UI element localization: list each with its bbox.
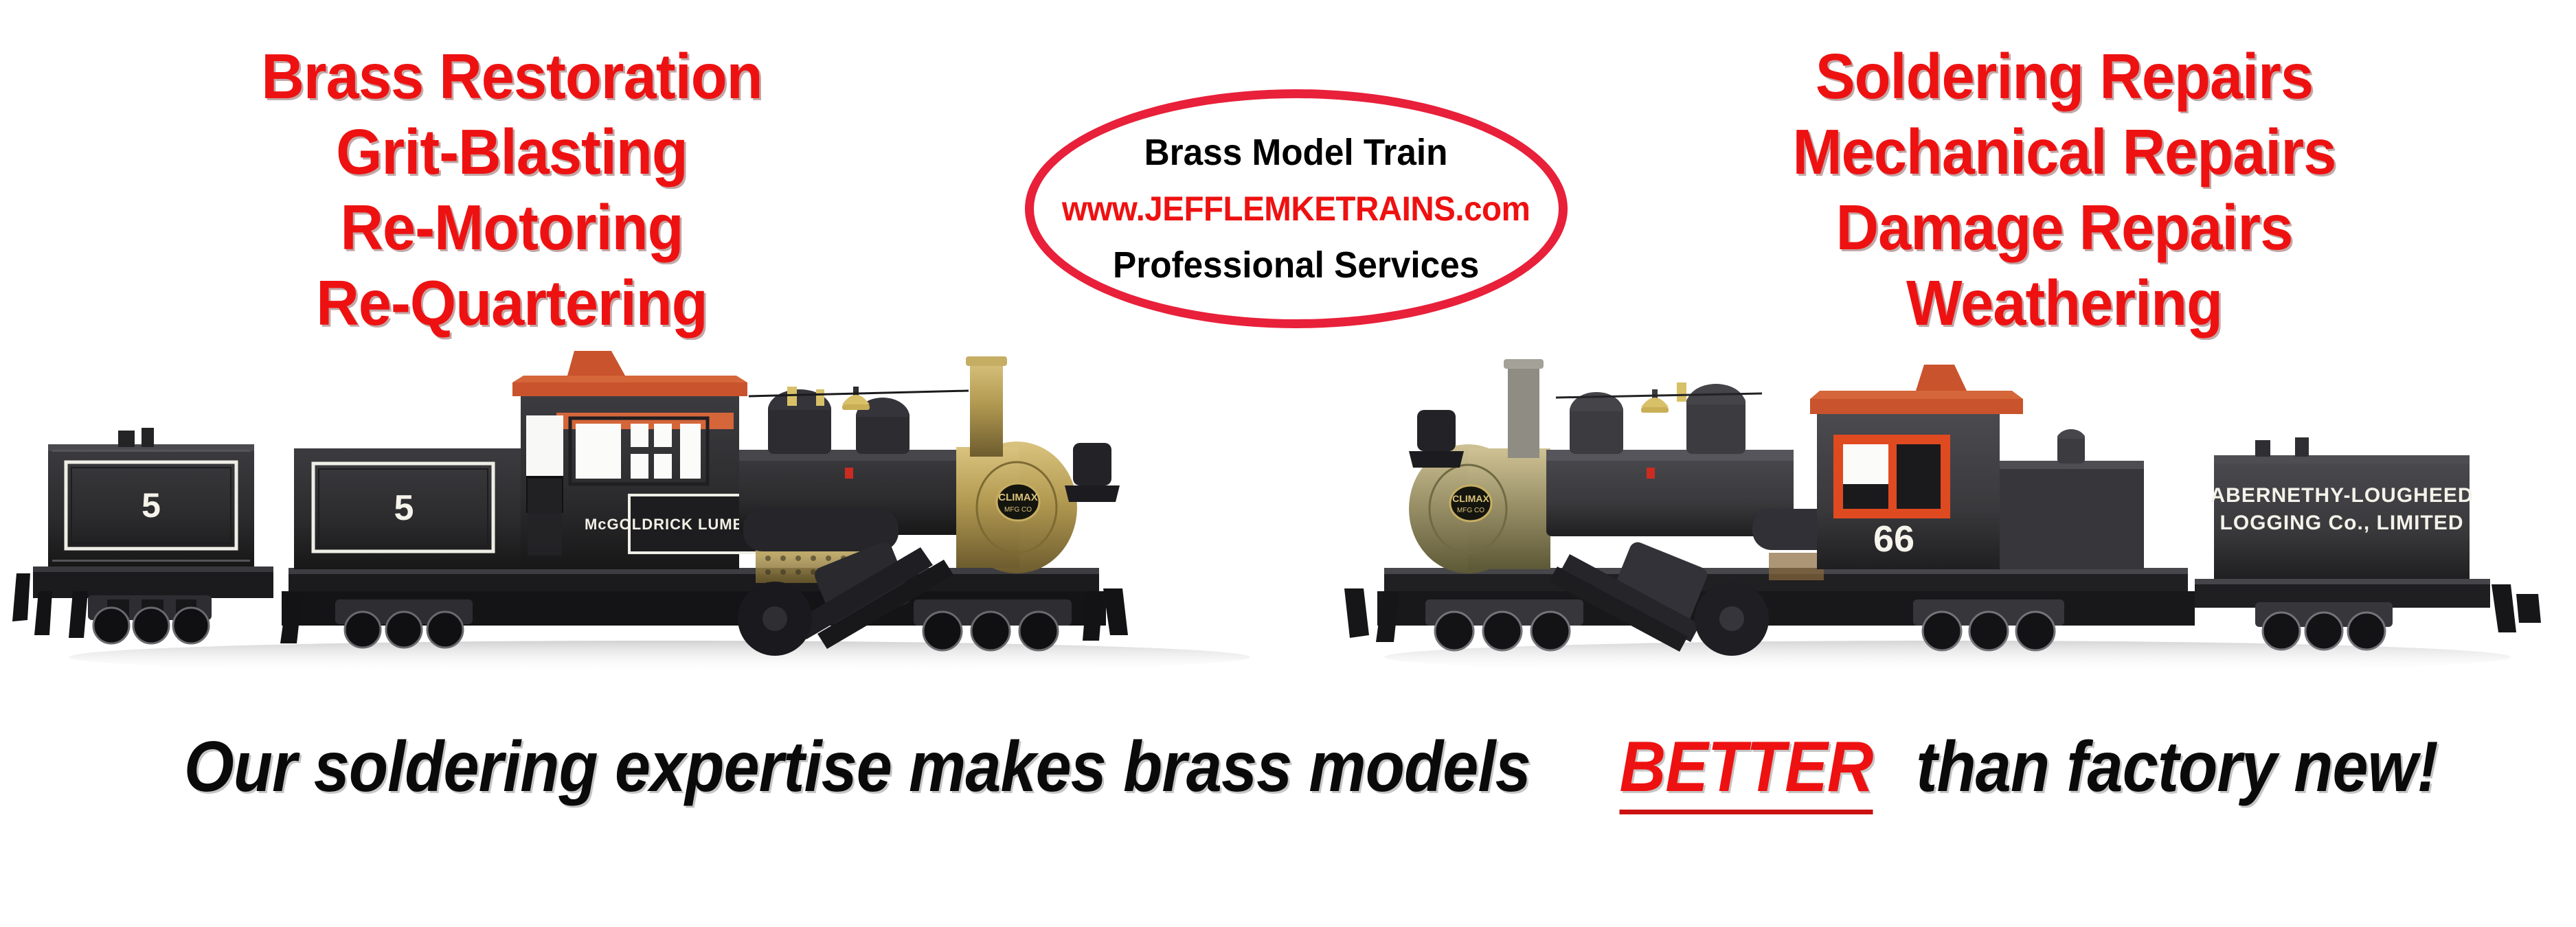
cab-bunker-number-label: 5	[394, 488, 414, 528]
advertisement-banner: Brass Restoration Grit-Blasting Re-Motor…	[0, 0, 2576, 927]
service-item-brass-restoration: Brass Restoration	[163, 38, 860, 114]
logo-line-brass-model-train: Brass Model Train	[1144, 131, 1448, 174]
headlight	[1065, 443, 1120, 502]
climax-drive-gear	[1549, 540, 1769, 656]
bell-brass	[842, 387, 870, 410]
service-item-weathering: Weathering	[1716, 265, 2413, 341]
builder-plate-label: CLIMAX	[1452, 493, 1489, 504]
builder-plate-label: CLIMAX	[998, 492, 1038, 503]
locomotive-truck-rear	[1913, 599, 2064, 650]
tender-car: ABERNETHY-LOUGHEED LOGGING Co., LIMITED	[2195, 437, 2541, 650]
service-item-damage-repairs: Damage Repairs	[1716, 190, 2413, 265]
cab-number-label: 66	[1873, 518, 1914, 560]
services-list-right: Soldering Repairs Mechanical Repairs Dam…	[1690, 38, 2439, 341]
photo-ground-shadow	[69, 641, 1250, 674]
builder-plate-sublabel: MFG CO	[1004, 506, 1032, 514]
smokestack	[1508, 362, 1539, 458]
tagline: Our soldering expertise makes brass mode…	[0, 726, 2576, 814]
logo-line-website-url[interactable]: www.JEFFLEMKETRAINS.com	[1062, 189, 1530, 229]
smokestack	[970, 359, 1003, 457]
tender-lettering-line1: ABERNETHY-LOUGHEED	[2210, 484, 2473, 507]
builder-plate-sublabel: MFG CO	[1457, 507, 1484, 514]
locomotive-truck-front	[1425, 599, 1583, 650]
locomotive-photo-left: 5	[7, 347, 1319, 704]
services-list-left: Brass Restoration Grit-Blasting Re-Motor…	[137, 38, 886, 341]
tender-lettering-line2: LOGGING Co., LIMITED	[2220, 512, 2464, 534]
locomotive-right: CLIMAX MFG CO	[1344, 359, 2195, 656]
tender-truck	[88, 595, 212, 643]
headlight	[1409, 410, 1464, 468]
service-item-soldering-repairs: Soldering Repairs	[1716, 38, 2413, 114]
locomotive-left: 5	[280, 351, 1128, 656]
tender-number-label: 5	[142, 486, 161, 525]
smokebox-brass-front: CLIMAX MFG CO	[956, 442, 1077, 573]
bell-brass	[1641, 389, 1669, 413]
service-item-grit-blasting: Grit-Blasting	[163, 114, 860, 190]
tagline-highlight-better: BETTER	[1619, 726, 1873, 814]
company-logo-oval: Brass Model Train www.JEFFLEMKETRAINS.co…	[1025, 89, 1568, 328]
tagline-part-one: Our soldering expertise makes brass mode…	[184, 726, 1530, 808]
locomotive-truck-rear	[335, 599, 473, 648]
service-item-re-quartering: Re-Quartering	[163, 265, 860, 341]
tender-car: 5	[12, 428, 273, 643]
service-item-mechanical-repairs: Mechanical Repairs	[1716, 114, 2413, 190]
logo-line-professional-services: Professional Services	[1113, 244, 1479, 286]
locomotive-truck-front	[914, 599, 1072, 650]
service-item-re-motoring: Re-Motoring	[163, 190, 860, 265]
tagline-part-two: than factory new!	[1916, 726, 2438, 808]
locomotive-photo-right: CLIMAX MFG CO	[1343, 347, 2573, 704]
tender-truck	[2255, 602, 2393, 650]
